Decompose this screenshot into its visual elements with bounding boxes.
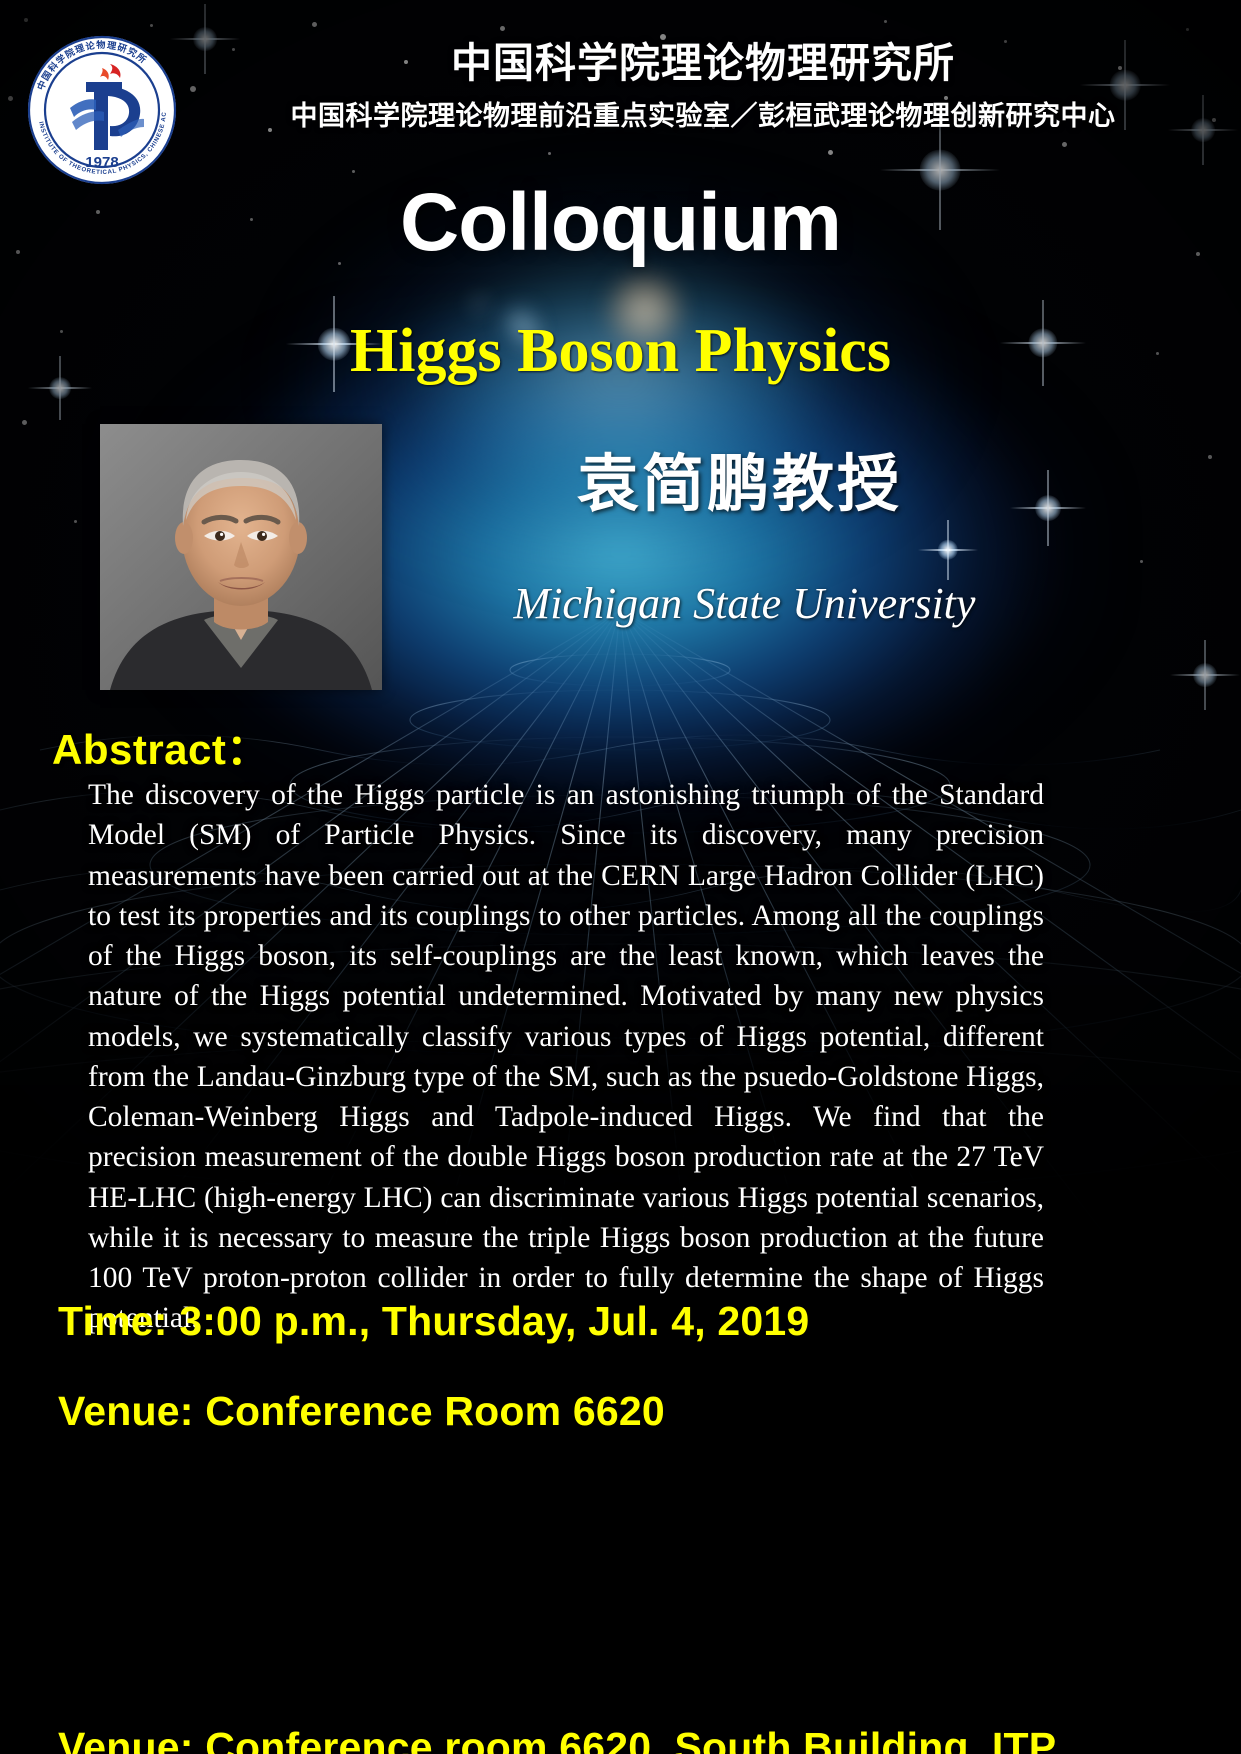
event-type-title: Colloquium — [0, 182, 1241, 264]
event-venue-detail: Venue: Conference room 6620, South Build… — [58, 1724, 1056, 1754]
talk-title: Higgs Boson Physics — [0, 320, 1241, 382]
event-time: Time: 3:00 p.m., Thursday, Jul. 4, 2019 — [58, 1298, 809, 1345]
institute-name-cn: 中国科学院理论物理研究所 — [185, 38, 1221, 89]
header-text-block: 中国科学院理论物理研究所 中国科学院理论物理前沿重点实验室／彭桓武理论物理创新研… — [185, 38, 1221, 134]
speaker-affiliation: Michigan State University — [398, 578, 1091, 631]
lab-name-cn: 中国科学院理论物理前沿重点实验室／彭桓武理论物理创新研究中心 — [185, 99, 1221, 134]
institute-logo-icon: 中国科学院理论物理研究所 INSTITUTE OF THEORETICAL PH… — [26, 34, 178, 186]
speaker-photo — [100, 424, 382, 690]
abstract-heading: Abstract： — [52, 716, 269, 777]
svg-text:1978: 1978 — [85, 154, 118, 171]
poster-header: 中国科学院理论物理研究所 INSTITUTE OF THEORETICAL PH… — [0, 0, 1241, 175]
poster-root: 中国科学院理论物理研究所 INSTITUTE OF THEORETICAL PH… — [0, 0, 1241, 1754]
event-venue: Venue: Conference Room 6620 — [58, 1388, 665, 1435]
speaker-name: 袁简鹏教授 — [398, 452, 1081, 517]
abstract-body-text: The discovery of the Higgs particle is a… — [88, 775, 1044, 1339]
